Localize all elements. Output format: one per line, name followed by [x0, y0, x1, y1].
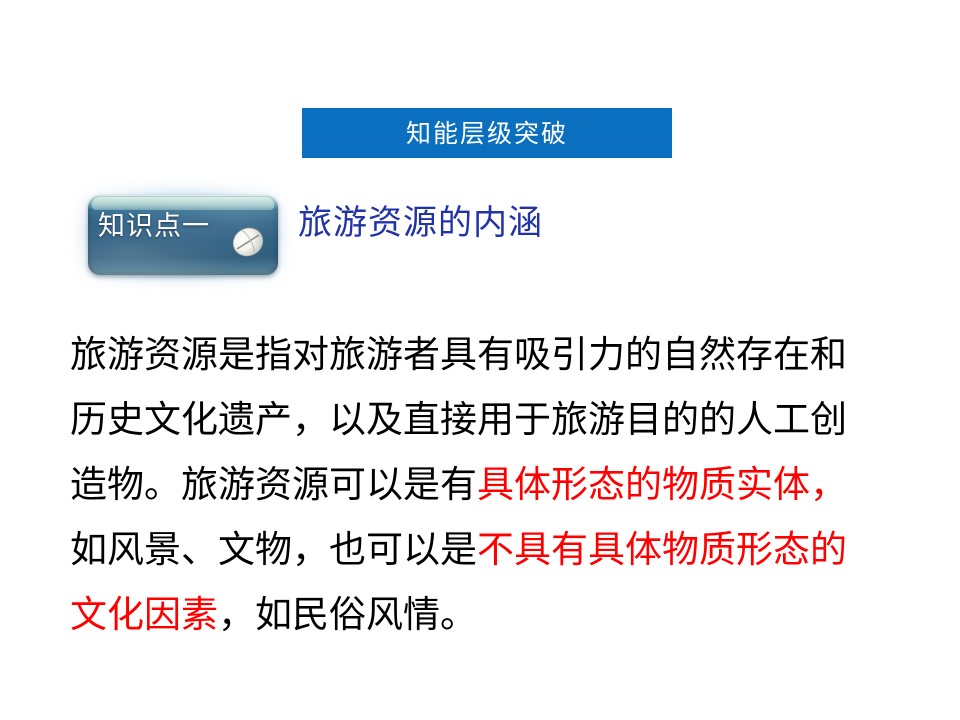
body-segment: 如风景、文物，也可以是 — [70, 528, 477, 571]
body-segment: 历史文化遗产，以及直接用于旅游目的的人工创 — [70, 398, 847, 441]
body-line: 文化因素，如民俗风情。 — [70, 582, 906, 647]
slide-canvas: 知能层级突破 知识点一 — [0, 0, 960, 720]
body-segment: 造物。旅游资源可以是有 — [70, 463, 477, 506]
body-line: 如风景、文物，也可以是不具有具体物质形态的 — [70, 517, 906, 582]
body-line: 历史文化遗产，以及直接用于旅游目的的人工创 — [70, 387, 906, 452]
knowledge-point-badge: 知识点一 — [62, 175, 302, 295]
body-segment-highlight: 具体形态的物质实体， — [477, 463, 847, 506]
body-segment: ，如民俗风情。 — [218, 593, 477, 636]
body-segment-highlight: 不具有具体物质形态的 — [477, 528, 847, 571]
section-banner: 知能层级突破 — [302, 108, 672, 158]
body-paragraph: 旅游资源是指对旅游者具有吸引力的自然存在和 历史文化遗产，以及直接用于旅游目的的… — [70, 322, 906, 647]
section-banner-title: 知能层级突破 — [406, 121, 568, 146]
body-segment: 旅游资源是指对旅游者具有吸引力的自然存在和 — [70, 333, 847, 376]
body-segment-highlight: 文化因素 — [70, 593, 218, 636]
topic-heading: 旅游资源的内涵 — [298, 206, 543, 240]
badge-plate: 知识点一 — [88, 195, 278, 275]
body-line: 造物。旅游资源可以是有具体形态的物质实体， — [70, 452, 906, 517]
body-line: 旅游资源是指对旅游者具有吸引力的自然存在和 — [70, 322, 906, 387]
white-sphere-icon — [230, 225, 266, 259]
badge-label: 知识点一 — [98, 213, 248, 240]
